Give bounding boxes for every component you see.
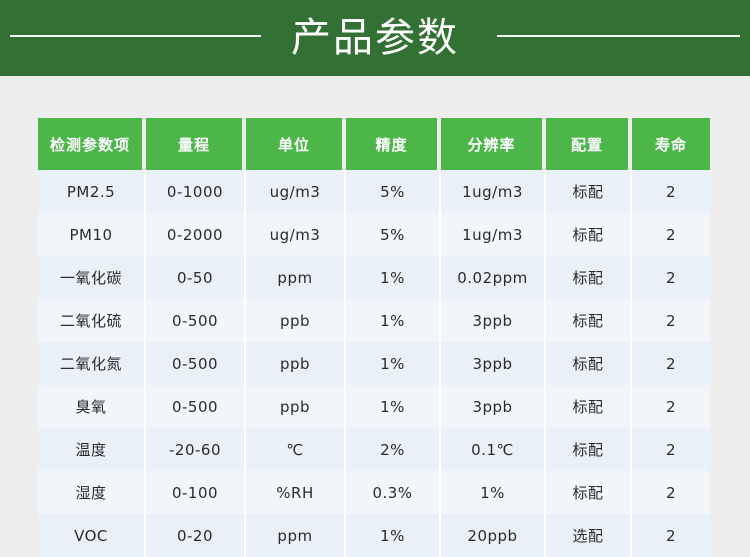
table-cell: ug/m3 xyxy=(246,213,346,256)
table-cell: PM2.5 xyxy=(38,170,146,213)
column-header-0: 检测参数项 xyxy=(38,118,146,170)
table-cell: 0.02ppm xyxy=(441,256,546,299)
table-cell: ppm xyxy=(246,514,346,557)
table-cell: 1% xyxy=(346,342,441,385)
table-cell: 5% xyxy=(346,213,441,256)
table-cell: 臭氧 xyxy=(38,385,146,428)
table-cell: 1% xyxy=(346,299,441,342)
table-cell: 0-500 xyxy=(146,299,246,342)
table-cell: 0-500 xyxy=(146,385,246,428)
column-header-5: 配置 xyxy=(546,118,632,170)
column-header-4: 分辨率 xyxy=(441,118,546,170)
table-cell: 0-500 xyxy=(146,342,246,385)
table-cell: 2 xyxy=(632,256,710,299)
table-cell: 0-2000 xyxy=(146,213,246,256)
table-cell: 1% xyxy=(441,471,546,514)
table-cell: %RH xyxy=(246,471,346,514)
table-cell: 2 xyxy=(632,299,710,342)
table-cell: 标配 xyxy=(546,471,632,514)
page-banner: 产品参数 xyxy=(0,0,750,76)
table-cell: 标配 xyxy=(546,170,632,213)
table-cell: 二氧化硫 xyxy=(38,299,146,342)
table-cell: 0.1℃ xyxy=(441,428,546,471)
table-cell: 3ppb xyxy=(441,342,546,385)
table-cell: 1% xyxy=(346,514,441,557)
table-cell: 0-100 xyxy=(146,471,246,514)
table-cell: ppm xyxy=(246,256,346,299)
table-cell: 标配 xyxy=(546,213,632,256)
table-row: 温度-20-60℃2%0.1℃标配2 xyxy=(38,428,710,471)
table-cell: 2 xyxy=(632,514,710,557)
table-cell: 0-20 xyxy=(146,514,246,557)
table-cell: 20ppb xyxy=(441,514,546,557)
column-header-6: 寿命 xyxy=(632,118,710,170)
table-cell: 1ug/m3 xyxy=(441,213,546,256)
column-header-1: 量程 xyxy=(146,118,246,170)
table-cell: VOC xyxy=(38,514,146,557)
table-row: PM100-2000ug/m35%1ug/m3标配2 xyxy=(38,213,710,256)
table-cell: 3ppb xyxy=(441,299,546,342)
table-cell: ug/m3 xyxy=(246,170,346,213)
table-cell: 1ug/m3 xyxy=(441,170,546,213)
table-cell: 一氧化碳 xyxy=(38,256,146,299)
table-cell: 2% xyxy=(346,428,441,471)
table-cell: 二氧化氮 xyxy=(38,342,146,385)
table-cell: 温度 xyxy=(38,428,146,471)
table-cell: 1% xyxy=(346,385,441,428)
table-cell: 2 xyxy=(632,471,710,514)
table-cell: 选配 xyxy=(546,514,632,557)
table-row: 臭氧0-500ppb1%3ppb标配2 xyxy=(38,385,710,428)
table-header-row: 检测参数项量程单位精度分辨率配置寿命 xyxy=(38,118,710,170)
table-cell: 0-1000 xyxy=(146,170,246,213)
table-cell: ℃ xyxy=(246,428,346,471)
table-body: PM2.50-1000ug/m35%1ug/m3标配2PM100-2000ug/… xyxy=(38,170,710,557)
table-cell: 标配 xyxy=(546,428,632,471)
table-cell: 2 xyxy=(632,428,710,471)
page-title: 产品参数 xyxy=(0,12,750,64)
table-cell: 1% xyxy=(346,256,441,299)
table-cell: 标配 xyxy=(546,256,632,299)
table-cell: 0-50 xyxy=(146,256,246,299)
table-cell: ppb xyxy=(246,299,346,342)
table-cell: 2 xyxy=(632,170,710,213)
table-row: 湿度0-100%RH0.3%1%标配2 xyxy=(38,471,710,514)
spec-table-container: 检测参数项量程单位精度分辨率配置寿命 PM2.50-1000ug/m35%1ug… xyxy=(38,118,710,557)
table-cell: 标配 xyxy=(546,299,632,342)
table-cell: 标配 xyxy=(546,385,632,428)
table-row: VOC0-20ppm1%20ppb选配2 xyxy=(38,514,710,557)
column-header-2: 单位 xyxy=(246,118,346,170)
table-cell: -20-60 xyxy=(146,428,246,471)
spec-table: 检测参数项量程单位精度分辨率配置寿命 PM2.50-1000ug/m35%1ug… xyxy=(38,118,710,557)
table-cell: 湿度 xyxy=(38,471,146,514)
table-cell: 2 xyxy=(632,385,710,428)
table-cell: PM10 xyxy=(38,213,146,256)
table-cell: 3ppb xyxy=(441,385,546,428)
table-row: 一氧化碳0-50ppm1%0.02ppm标配2 xyxy=(38,256,710,299)
table-row: 二氧化氮0-500ppb1%3ppb标配2 xyxy=(38,342,710,385)
table-cell: 2 xyxy=(632,213,710,256)
table-row: PM2.50-1000ug/m35%1ug/m3标配2 xyxy=(38,170,710,213)
table-cell: 2 xyxy=(632,342,710,385)
table-row: 二氧化硫0-500ppb1%3ppb标配2 xyxy=(38,299,710,342)
table-cell: 0.3% xyxy=(346,471,441,514)
table-cell: 标配 xyxy=(546,342,632,385)
column-header-3: 精度 xyxy=(346,118,441,170)
table-cell: ppb xyxy=(246,342,346,385)
table-cell: ppb xyxy=(246,385,346,428)
table-cell: 5% xyxy=(346,170,441,213)
table-head: 检测参数项量程单位精度分辨率配置寿命 xyxy=(38,118,710,170)
